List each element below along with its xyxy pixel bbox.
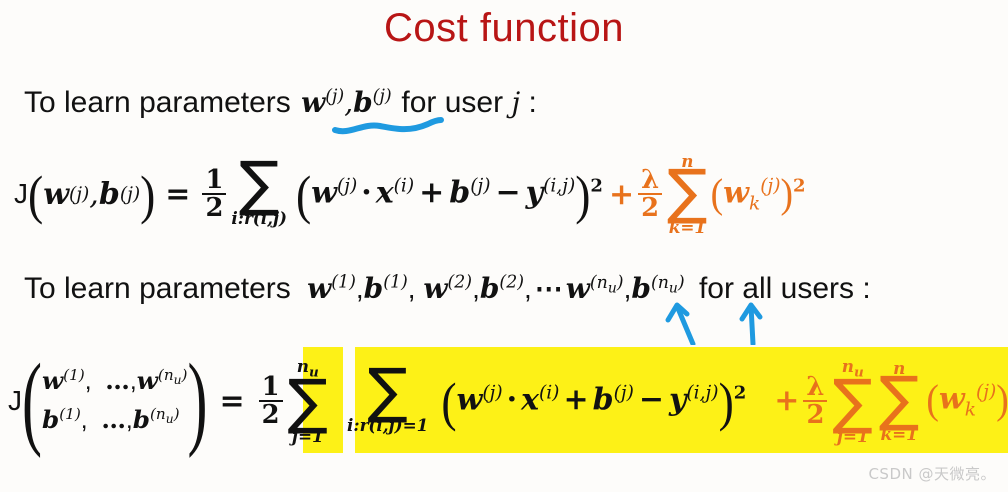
eq2-y-superscript: (i,j)	[686, 382, 718, 403]
eq2-reg-w: w	[939, 382, 965, 417]
eq2-row1-dots: …	[105, 366, 130, 395]
eq1-y: y	[526, 175, 543, 210]
eq1-half-fraction: 1 2	[202, 167, 226, 222]
line1-prefix: To learn parameters	[24, 86, 291, 119]
eq2-lambda-fraction: λ 2	[803, 374, 827, 429]
line2-wn-sup-close: )	[617, 273, 624, 293]
line1-params: w(j),b(j)	[299, 87, 401, 118]
eq1-reg-weight-squared: (wk(j))2	[711, 173, 806, 216]
line2-bn-sup-close: )	[678, 273, 685, 293]
eq1-lhs-b: b	[99, 177, 120, 212]
eq2-plus: +	[563, 382, 588, 417]
line2-colon: :	[862, 272, 870, 305]
eq1-term-open-paren: (	[296, 163, 311, 226]
eq2-outer-summation: nu ∑ j=1	[288, 357, 328, 446]
slide-canvas: Cost function To learn parameters w(j),b…	[0, 0, 1008, 492]
eq2-minus: −	[639, 382, 664, 417]
line1-suffix: for user	[401, 86, 503, 119]
eq2-w1: w	[42, 366, 63, 395]
eq2-outer-sigma-icon: ∑	[288, 378, 328, 427]
eq1-reg-summation: n ∑ k=1	[667, 152, 707, 236]
equation-single-user-cost: J(w(j),b(j)) = 1 2 ∑ i:r(i,j) (w(j)·x(i)…	[14, 152, 806, 236]
eq1-lambda: λ	[638, 167, 662, 193]
eq2-reg-sigma2-icon: ∑	[879, 375, 919, 424]
eq2-reg-sum2-lower-limit: k=1	[880, 425, 917, 443]
line1-w-superscript: (j)	[325, 87, 344, 107]
line2-bn-sup-open: (n	[651, 273, 669, 293]
eq1-term-close-paren: )	[575, 163, 590, 226]
eq2-y: y	[669, 382, 686, 417]
eq2-parameter-stack: w(1), …,w(nu) b(1), …,b(nu)	[42, 362, 188, 440]
eq2-x-superscript: (i)	[539, 382, 559, 403]
eq1-lhs-w: w	[43, 177, 69, 212]
eq2-reg-summation-features: n ∑ k=1	[879, 359, 919, 443]
eq1-b: b	[449, 175, 470, 210]
eq2-row1-comma: ,	[85, 368, 92, 395]
line2-w1-superscript: (1)	[331, 273, 356, 293]
eq2-reg-w-subscript: k	[965, 400, 976, 421]
eq2-bn-sup-subscript: u	[166, 412, 174, 426]
eq2-stack-row-b: b(1), …,b(nu)	[42, 401, 188, 440]
equation-all-users-cost: J( w(1), …,w(nu) b(1), …,b(nu) ) = 1 2 n…	[8, 345, 1008, 457]
eq2-row2-comma: ,	[81, 407, 88, 434]
eq1-reg-close-paren: )	[781, 170, 794, 217]
eq2-half-fraction: 1 2	[259, 374, 283, 429]
eq1-sigma-icon: ∑	[239, 160, 279, 209]
eq1-lhs-comma: ,	[89, 177, 99, 212]
blue-underline-annotation-icon	[332, 116, 444, 138]
eq1-reg-w-superscript: (j)	[760, 175, 780, 196]
eq2-lambda: λ	[803, 374, 827, 400]
line2-w1: w	[307, 272, 331, 305]
eq2-row1-comma2: ,	[130, 368, 137, 395]
eq1-half-numerator: 1	[202, 167, 226, 193]
eq2-lambda-denominator: 2	[803, 400, 827, 428]
eq1-dot-operator: ·	[361, 175, 371, 210]
eq2-half-numerator: 1	[259, 374, 283, 400]
eq2-w-superscript: (j)	[482, 382, 502, 403]
page-title: Cost function	[0, 6, 1008, 51]
eq2-dot-operator: ·	[507, 382, 517, 417]
eq2-bn-sup-open: (n	[150, 405, 166, 423]
eq2-inner-sigma-icon: ∑	[367, 367, 407, 416]
eq1-square-exponent: 2	[590, 175, 603, 196]
eq1-plus: +	[419, 175, 444, 210]
eq2-reg-close-paren: )	[996, 377, 1008, 424]
eq2-regularization-term: + λ 2 nu ∑ j=1 n ∑ k=1 (wk(j))2	[772, 357, 1008, 446]
eq2-half-denominator: 2	[259, 400, 283, 428]
eq1-x-superscript: (i)	[394, 175, 414, 196]
line2-b1: b	[364, 272, 384, 305]
line1-b: b	[353, 86, 373, 119]
eq1-sum-lower-limit: i:r(i,j)	[231, 209, 287, 227]
eq1-reg-w: w	[723, 175, 749, 210]
eq2-equals: =	[219, 384, 244, 419]
eq2-reg-w-superscript: (j)	[976, 382, 996, 403]
eq2-term-open-paren: (	[441, 370, 456, 433]
eq2-matrix-open-paren: (	[22, 341, 42, 462]
line2-ellipsis: ⋯	[535, 272, 563, 305]
blue-up-arrows-annotation-icon	[655, 300, 785, 345]
line2-bn-sup-subscript: u	[669, 280, 678, 296]
eq2-b1: b	[42, 405, 59, 434]
eq1-reg-sum-lower-limit: k=1	[669, 218, 706, 236]
eq2-row2-dots: …	[101, 405, 126, 434]
eq1-w-superscript: (j)	[337, 175, 357, 196]
eq2-outer-sum-lower-limit: j=1	[292, 427, 324, 445]
eq2-wn: w	[137, 366, 158, 395]
eq1-w: w	[311, 175, 337, 210]
eq2-reg-summation-users: nu ∑ j=1	[833, 357, 873, 446]
eq1-lhs-w-superscript: (j)	[69, 184, 89, 205]
eq2-b: b	[593, 382, 614, 417]
eq2-bn: b	[133, 405, 150, 434]
eq2-w1-superscript: (1)	[63, 366, 85, 384]
eq1-reg-sigma-icon: ∑	[667, 168, 707, 217]
eq2-bn-sup-close: )	[174, 405, 180, 423]
eq1-J: J	[14, 178, 28, 210]
line1-b-superscript: (j)	[373, 87, 392, 107]
eq1-reg-w-subscript: k	[749, 193, 760, 214]
eq2-reg-plus: +	[774, 383, 799, 418]
eq2-b-superscript: (j)	[614, 382, 634, 403]
eq2-row2-comma2: ,	[126, 407, 133, 434]
line2-b2-superscript: (2)	[499, 273, 524, 293]
line1-colon: :	[528, 86, 536, 119]
eq1-y-superscript: (i,j)	[543, 175, 575, 196]
line2-b1-superscript: (1)	[383, 273, 408, 293]
instruction-line-user-j: To learn parameters w(j),b(j) for user j…	[24, 86, 537, 120]
line1-user-index: j	[511, 86, 520, 119]
line2-params: w(1),b(1), w(2),b(2),⋯w(nu),b(nu)	[307, 273, 684, 304]
eq2-square-exponent: 2	[734, 382, 747, 403]
eq1-lambda-denominator: 2	[638, 193, 662, 221]
eq2-wn-sup-open: (n	[158, 366, 174, 384]
eq1-lhs-b-superscript: (j)	[120, 184, 140, 205]
line1-w: w	[301, 86, 325, 119]
eq2-inner-summation: ∑ i:r(i,j)=1	[347, 367, 428, 435]
eq2-reg-sigma1-icon: ∑	[833, 378, 873, 427]
eq2-squared-error-term: (w(j)·x(i)+b(j)−y(i,j))2	[441, 375, 746, 428]
eq1-reg-square-exponent: 2	[793, 175, 806, 196]
line1-comma: ,	[344, 86, 353, 119]
eq2-x: x	[521, 382, 539, 417]
eq2-J: J	[8, 385, 22, 417]
line2-prefix: To learn parameters	[24, 272, 291, 305]
eq2-inner-sum-lower-limit: i:r(i,j)=1	[347, 416, 428, 434]
line2-wn-sup-open: (n	[590, 273, 608, 293]
eq1-minus: −	[496, 175, 521, 210]
line2-bn: b	[631, 272, 651, 305]
eq1-close-paren: )	[140, 163, 155, 226]
eq1-x: x	[376, 175, 394, 210]
line2-wn-superscript: (nu)	[590, 273, 624, 293]
eq2-reg-weight-squared: (wk(j))2	[926, 379, 1008, 422]
line2-b2: b	[480, 272, 500, 305]
line2-w2-superscript: (2)	[447, 273, 472, 293]
eq2-matrix-close-paren: )	[187, 341, 207, 462]
eq1-reg-plus: +	[609, 177, 634, 212]
eq1-open-paren: (	[28, 163, 43, 226]
line2-bn-superscript: (nu)	[651, 273, 685, 293]
line2-wn: w	[566, 272, 590, 305]
eq2-stack-row-w: w(1), …,w(nu)	[42, 362, 188, 401]
eq1-summation: ∑ i:r(i,j)	[231, 160, 287, 228]
eq1-half-denominator: 2	[202, 193, 226, 221]
eq1-lambda-fraction: λ 2	[638, 167, 662, 222]
eq2-reg-sum1-lower-limit: j=1	[837, 427, 869, 445]
watermark: CSDN @天微亮。	[868, 463, 996, 484]
eq1-equals: =	[165, 177, 190, 212]
line2-wn-sup-subscript: u	[608, 280, 617, 296]
eq1-regularization-term: + λ 2 n ∑ k=1 (wk(j))2	[607, 152, 806, 236]
eq2-b1-superscript: (1)	[59, 405, 81, 423]
eq2-bn-superscript: (nu)	[150, 405, 180, 423]
eq1-reg-open-paren: (	[711, 170, 724, 217]
eq1-b-superscript: (j)	[470, 175, 490, 196]
eq2-reg-open-paren: (	[926, 377, 939, 424]
eq2-wn-superscript: (nu)	[158, 366, 188, 384]
eq2-term-close-paren: )	[719, 370, 734, 433]
line2-w2: w	[423, 272, 447, 305]
eq2-wn-sup-subscript: u	[174, 373, 182, 387]
eq2-w: w	[457, 382, 483, 417]
eq1-squared-error-term: (w(j)·x(i)+b(j)−y(i,j))2	[296, 168, 603, 221]
